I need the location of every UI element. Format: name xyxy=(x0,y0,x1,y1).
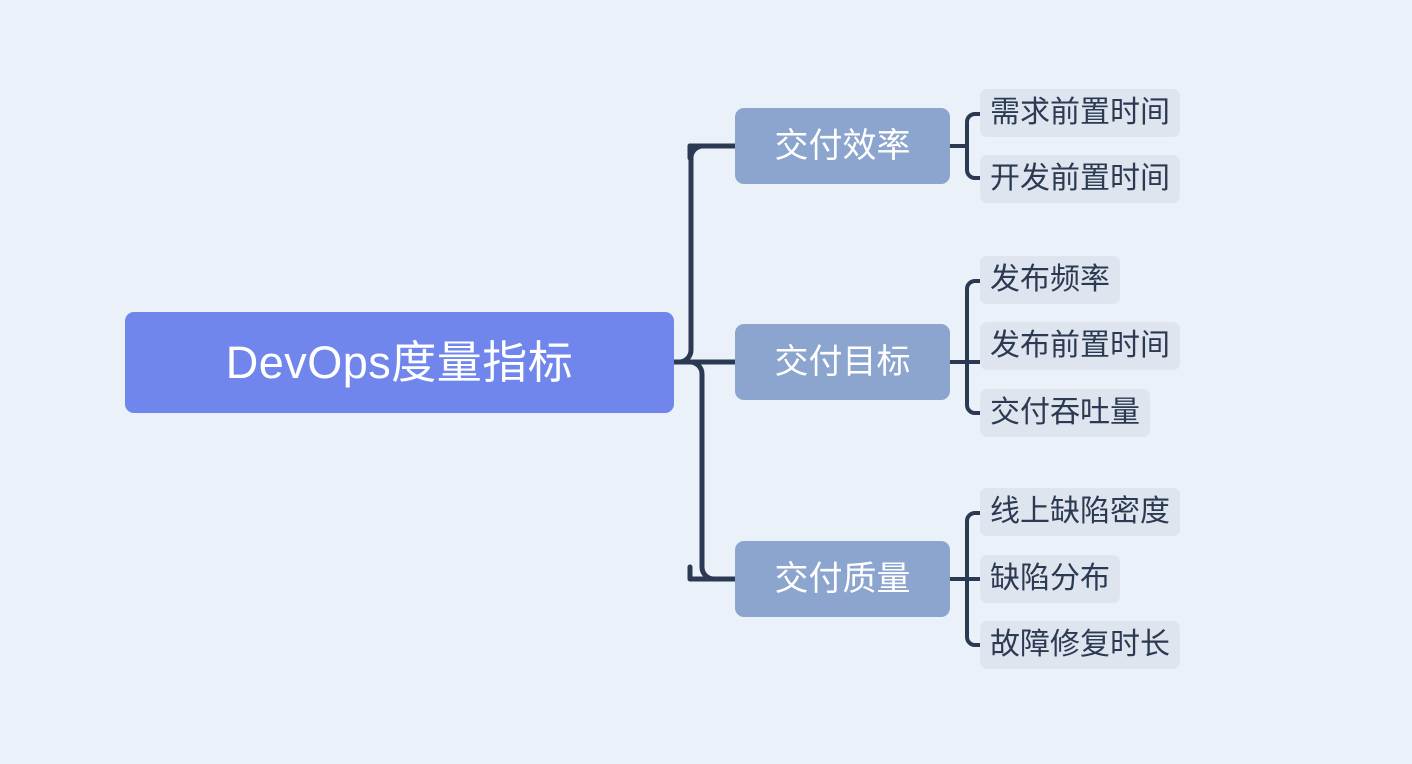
connector-branch-0-bracket xyxy=(967,114,980,178)
root-node-label: DevOps度量指标 xyxy=(226,340,574,385)
connector-branch-0-arm xyxy=(690,146,735,158)
leaf-node-label: 需求前置时间 xyxy=(990,98,1170,128)
branch-node-delivery-quality[interactable]: 交付质量 xyxy=(735,541,950,617)
leaf-node-label: 缺陷分布 xyxy=(990,564,1110,594)
mindmap-canvas: DevOps度量指标 交付效率 需求前置时间 开发前置时间 交付目标 发布频率 … xyxy=(0,0,1412,764)
branch-node-label: 交付质量 xyxy=(775,562,911,596)
leaf-node-release-lead-time[interactable]: 发布前置时间 xyxy=(980,322,1180,370)
leaf-node-delivery-throughput[interactable]: 交付吞吐量 xyxy=(980,389,1150,437)
leaf-node-development-lead-time[interactable]: 开发前置时间 xyxy=(980,155,1180,203)
leaf-node-mttr[interactable]: 故障修复时长 xyxy=(980,621,1180,669)
branch-node-label: 交付效率 xyxy=(775,129,911,163)
connector-branch-1-bracket xyxy=(967,281,980,413)
leaf-node-requirement-lead-time[interactable]: 需求前置时间 xyxy=(980,89,1180,137)
leaf-node-online-defect-density[interactable]: 线上缺陷密度 xyxy=(980,488,1180,536)
root-node[interactable]: DevOps度量指标 xyxy=(125,312,674,413)
branch-node-delivery-efficiency[interactable]: 交付效率 xyxy=(735,108,950,184)
connector-main-bracket xyxy=(679,146,735,579)
branch-node-delivery-goal[interactable]: 交付目标 xyxy=(735,324,950,400)
leaf-node-label: 发布前置时间 xyxy=(990,331,1170,361)
leaf-node-label: 发布频率 xyxy=(990,265,1110,295)
leaf-node-label: 交付吞吐量 xyxy=(990,398,1140,428)
leaf-node-label: 线上缺陷密度 xyxy=(990,497,1170,527)
leaf-node-label: 开发前置时间 xyxy=(990,164,1170,194)
leaf-node-defect-distribution[interactable]: 缺陷分布 xyxy=(980,555,1120,603)
leaf-node-label: 故障修复时长 xyxy=(990,630,1170,660)
leaf-node-release-frequency[interactable]: 发布频率 xyxy=(980,256,1120,304)
branch-node-label: 交付目标 xyxy=(775,345,911,379)
connector-branch-2-bracket xyxy=(967,513,980,645)
connector-branch-2-arm xyxy=(690,567,735,579)
